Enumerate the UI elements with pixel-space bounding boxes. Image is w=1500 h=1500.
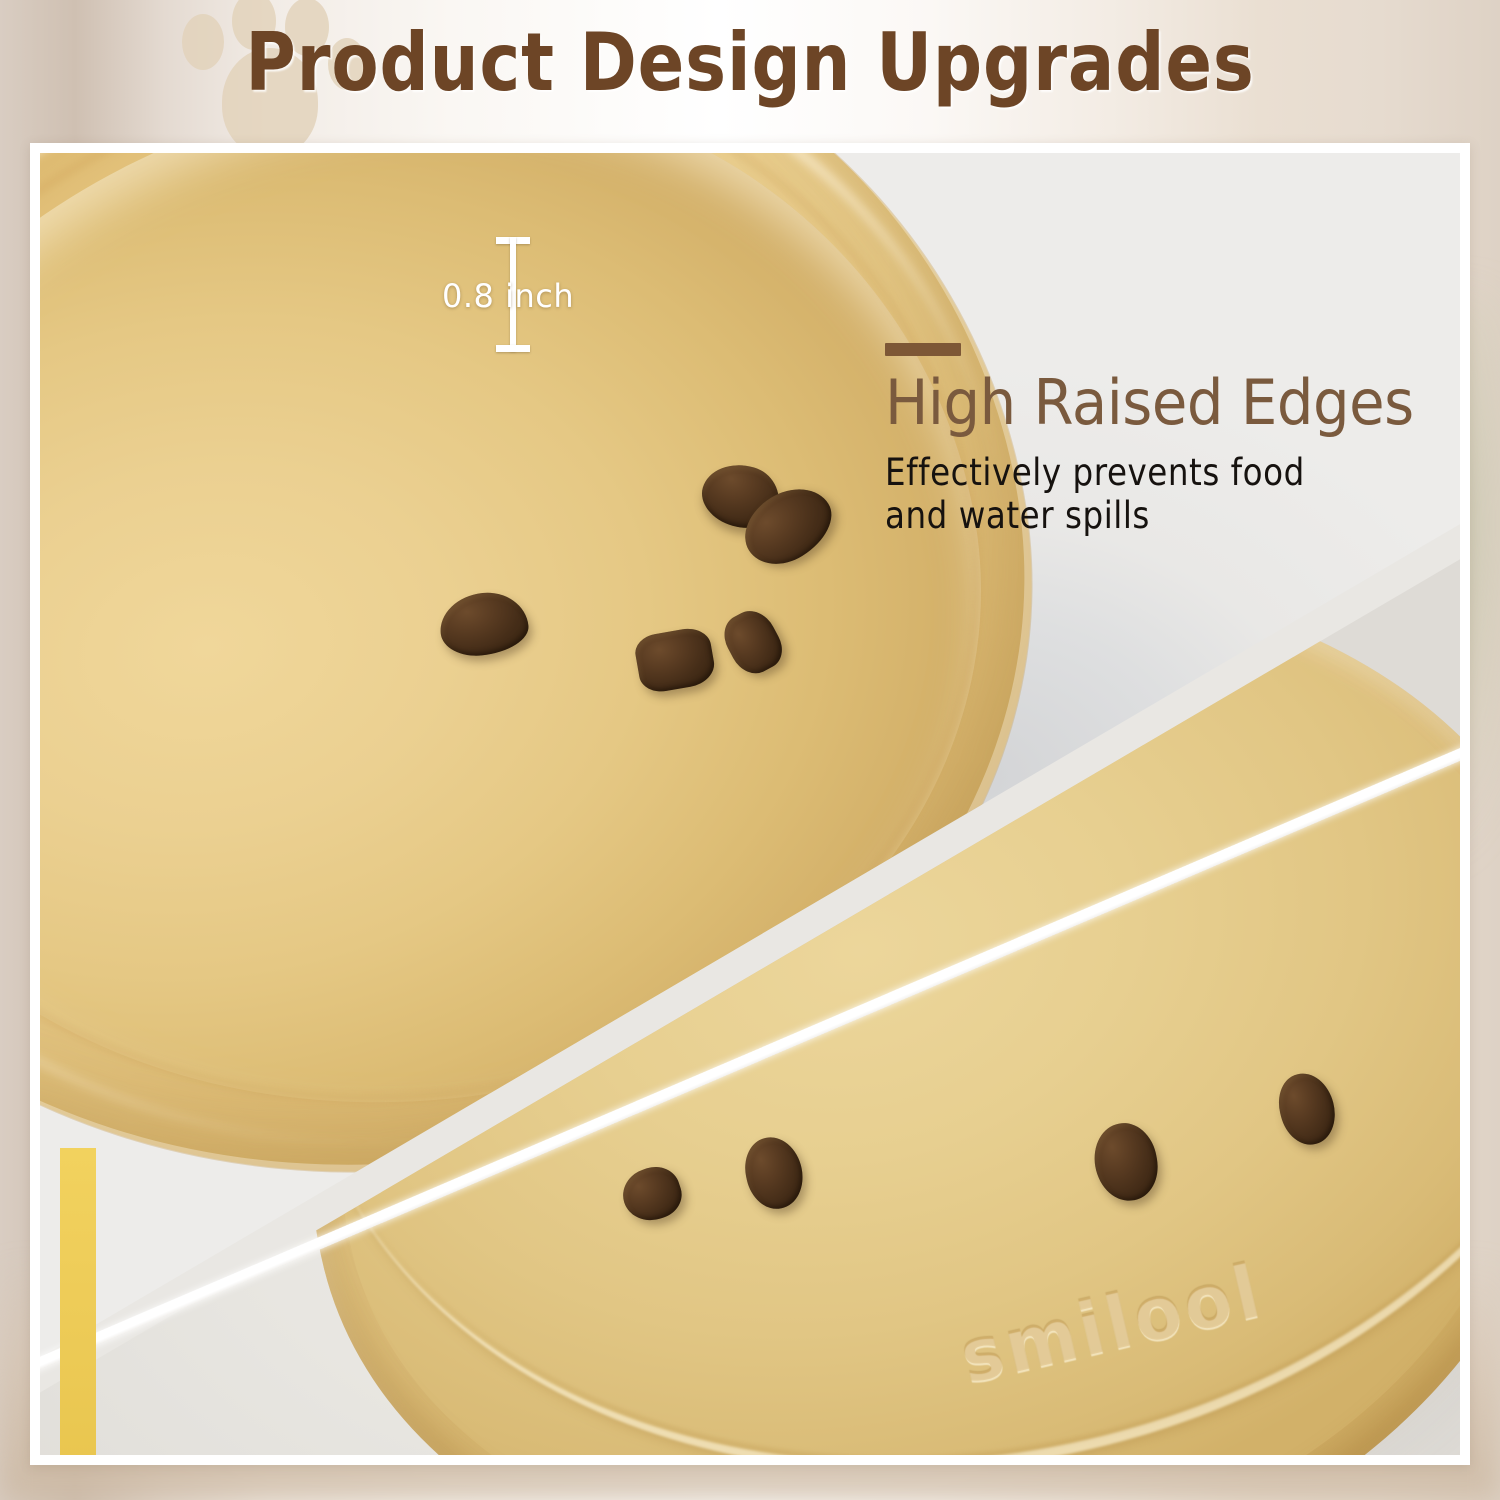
- measurement-cap-bottom: [496, 345, 530, 352]
- callout-heading: High Raised Edges: [885, 366, 1414, 439]
- callout-body-line-1: Effectively prevents food: [885, 451, 1385, 494]
- callout-high-raised-edges: High Raised Edges Effectively prevents f…: [885, 343, 1453, 538]
- callout-dash-icon: [885, 343, 961, 356]
- diagonal-divider-wrap: [40, 1408, 1460, 1455]
- photo-collage: 0.8 inch smilool: [40, 153, 1460, 1455]
- measurement-0-8-inch: 0.8 inch: [478, 237, 678, 357]
- measurement-label: 0.8 inch: [442, 277, 574, 315]
- yellow-accent-bar: [60, 1148, 96, 1455]
- product-infographic: Product Design Upgrades: [0, 0, 1500, 1500]
- page-title: Product Design Upgrades: [105, 16, 1395, 109]
- callout-body-line-2: and water spills: [885, 494, 1385, 537]
- header: Product Design Upgrades: [0, 0, 1500, 138]
- photo-frame: 0.8 inch smilool: [30, 143, 1470, 1465]
